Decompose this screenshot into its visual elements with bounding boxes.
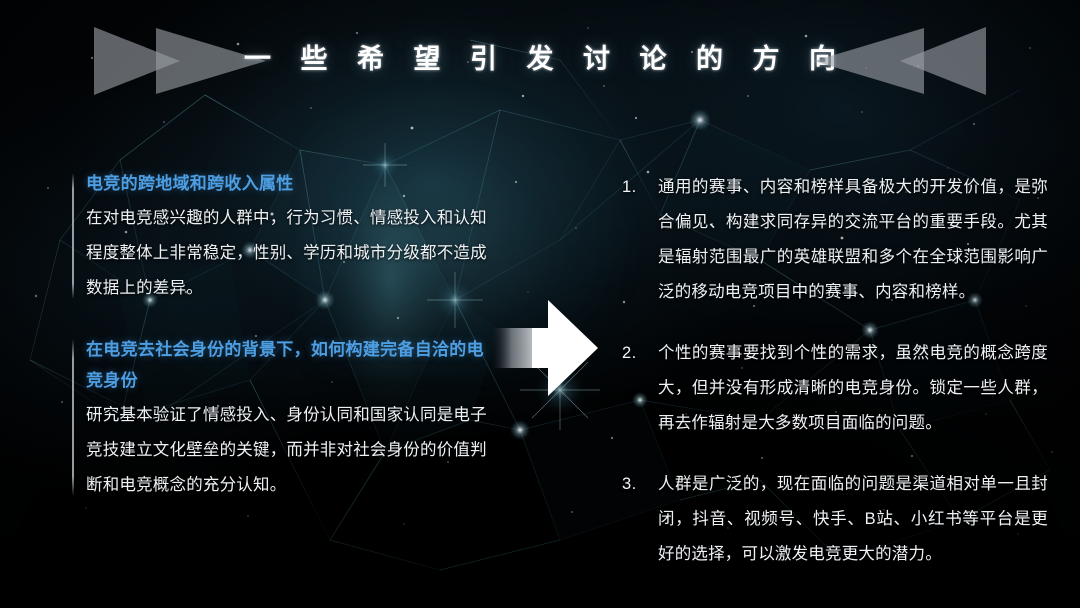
slide-header: 一 些 希 望 引 发 讨 论 的 方 向 xyxy=(0,0,1080,118)
accent-rule xyxy=(72,174,74,298)
center-arrow-graphic xyxy=(492,296,600,400)
list-item-text: 人群是广泛的，现在面临的问题是渠道相对单一且封闭，抖音、视频号、快手、B站、小红… xyxy=(658,467,1048,572)
list-item-text: 个性的赛事要找到个性的需求，虽然电竞的概念跨度大，但并没有形成清晰的电竞身份。锁… xyxy=(658,336,1048,441)
list-item-text: 通用的赛事、内容和榜样具备极大的开发价值，是弥合偏见、构建求同存异的交流平台的重… xyxy=(658,170,1048,310)
right-arrow-icon xyxy=(492,296,600,400)
list-item-number: 1. xyxy=(622,170,637,205)
list-item-number: 2. xyxy=(622,336,637,371)
left-block-2-heading: 在电竞去社会身份的背景下，如何构建完备自洽的电竞身份 xyxy=(86,334,500,396)
left-text-column: 电竞的跨地域和跨收入属性 在对电竞感兴趣的人群中，行为习惯、情感投入和认知程度整… xyxy=(60,168,500,531)
left-block-1-body: 在对电竞感兴趣的人群中，行为习惯、情感投入和认知程度整体上非常稳定，性别、学历和… xyxy=(86,201,500,306)
left-block-1: 电竞的跨地域和跨收入属性 在对电竞感兴趣的人群中，行为习惯、情感投入和认知程度整… xyxy=(60,168,500,306)
left-block-2-body: 研究基本验证了情感投入、身份认同和国家认同是电子竞技建立文化壁垒的关键，而并非对… xyxy=(86,398,500,503)
presentation-slide: 一 些 希 望 引 发 讨 论 的 方 向 电竞的跨地域和跨收入属性 在对电竞感… xyxy=(0,0,1080,608)
list-item: 3. 人群是广泛的，现在面临的问题是渠道相对单一且封闭，抖音、视频号、快手、B站… xyxy=(618,467,1048,572)
accent-rule xyxy=(72,340,74,495)
right-numbered-list: 1. 通用的赛事、内容和榜样具备极大的开发价值，是弥合偏见、构建求同存异的交流平… xyxy=(618,170,1048,598)
left-block-2: 在电竞去社会身份的背景下，如何构建完备自洽的电竞身份 研究基本验证了情感投入、身… xyxy=(60,334,500,503)
left-block-1-heading: 电竞的跨地域和跨收入属性 xyxy=(86,168,500,199)
list-item: 1. 通用的赛事、内容和榜样具备极大的开发价值，是弥合偏见、构建求同存异的交流平… xyxy=(618,170,1048,310)
list-item-number: 3. xyxy=(622,467,637,502)
double-left-triangle-decoration xyxy=(802,22,992,100)
list-item: 2. 个性的赛事要找到个性的需求，虽然电竞的概念跨度大，但并没有形成清晰的电竞身… xyxy=(618,336,1048,441)
